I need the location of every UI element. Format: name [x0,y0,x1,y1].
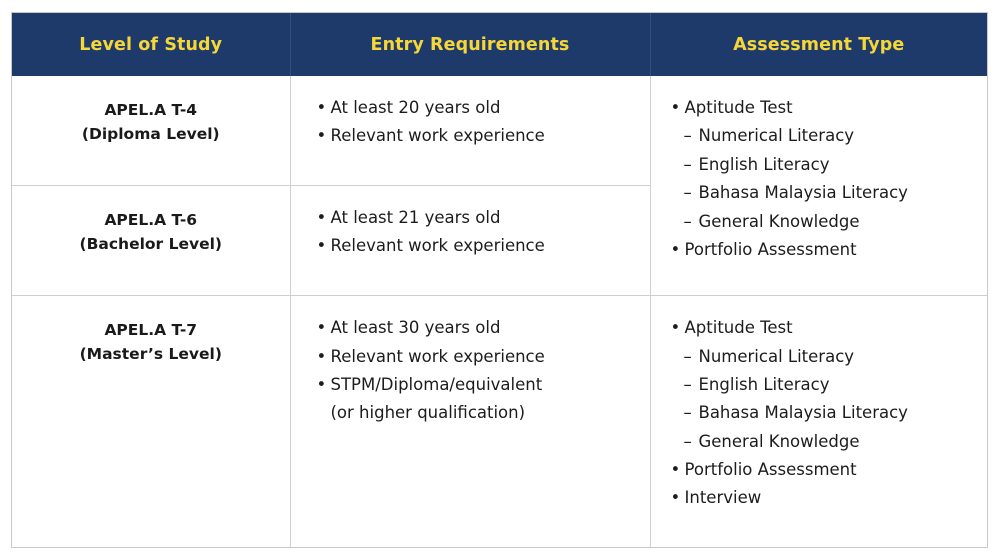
level-of-study-text: APEL.A T-4 (Diploma Level) [12,76,290,154]
entry-requirements-content: At least 20 years old Relevant work expe… [291,76,650,159]
list-item: Portfolio Assessment [671,456,978,484]
assessment-type-content: Aptitude Test Numerical Literacy English… [651,76,988,272]
level-name: (Master’s Level) [20,342,282,366]
level-code: APEL.A T-7 [20,318,282,342]
list-item: Bahasa Malaysia Literacy [671,399,978,427]
column-header-entry-requirements: Entry Requirements [290,13,650,76]
table-row: APEL.A T-7 (Master’s Level) At least 30 … [12,296,987,547]
cell-entry-requirements: At least 20 years old Relevant work expe… [290,76,650,185]
list-item: At least 30 years old [317,314,640,342]
entry-requirements-list: At least 21 years old Relevant work expe… [317,204,640,261]
table-header-row: Level of Study Entry Requirements Assess… [12,13,987,76]
level-name: (Diploma Level) [20,122,282,146]
table-body: APEL.A T-4 (Diploma Level) At least 20 y… [12,76,987,547]
list-item: English Literacy [671,371,978,399]
list-item: At least 21 years old [317,204,640,232]
apel-requirements-table: Level of Study Entry Requirements Assess… [11,12,988,548]
cell-assessment-type: Aptitude Test Numerical Literacy English… [650,296,987,547]
list-item: Aptitude Test [671,94,978,122]
entry-requirements-content: At least 30 years old Relevant work expe… [291,296,650,436]
list-item: At least 20 years old [317,94,640,122]
list-item: Portfolio Assessment [671,236,978,264]
table: Level of Study Entry Requirements Assess… [12,13,987,547]
list-item: Relevant work experience [317,122,640,150]
list-item: General Knowledge [671,208,978,236]
column-header-assessment-type: Assessment Type [650,13,987,76]
entry-requirements-list: At least 30 years old Relevant work expe… [317,314,640,428]
cell-entry-requirements: At least 21 years old Relevant work expe… [290,185,650,295]
entry-requirements-content: At least 21 years old Relevant work expe… [291,186,650,269]
table-row: APEL.A T-4 (Diploma Level) At least 20 y… [12,76,987,185]
list-item: Aptitude Test [671,314,978,342]
list-item: Interview [671,484,978,512]
list-item: Numerical Literacy [671,122,978,150]
table-header: Level of Study Entry Requirements Assess… [12,13,987,76]
list-item-continuation: (or higher qualification) [317,399,640,427]
entry-requirements-list: At least 20 years old Relevant work expe… [317,94,640,151]
cell-level-of-study: APEL.A T-6 (Bachelor Level) [12,185,290,295]
level-of-study-text: APEL.A T-6 (Bachelor Level) [12,186,290,264]
assessment-type-content: Aptitude Test Numerical Literacy English… [651,296,988,521]
level-name: (Bachelor Level) [20,232,282,256]
list-item: Bahasa Malaysia Literacy [671,179,978,207]
list-item: Numerical Literacy [671,343,978,371]
assessment-type-list: Aptitude Test Numerical Literacy English… [671,94,978,264]
cell-level-of-study: APEL.A T-7 (Master’s Level) [12,296,290,547]
list-item: Relevant work experience [317,232,640,260]
cell-entry-requirements: At least 30 years old Relevant work expe… [290,296,650,547]
cell-level-of-study: APEL.A T-4 (Diploma Level) [12,76,290,185]
level-of-study-text: APEL.A T-7 (Master’s Level) [12,296,290,374]
level-code: APEL.A T-4 [20,98,282,122]
cell-assessment-type: Aptitude Test Numerical Literacy English… [650,76,987,296]
assessment-type-list: Aptitude Test Numerical Literacy English… [671,314,978,513]
list-item: English Literacy [671,151,978,179]
list-item: Relevant work experience [317,343,640,371]
column-header-level-of-study: Level of Study [12,13,290,76]
level-code: APEL.A T-6 [20,208,282,232]
list-item: General Knowledge [671,428,978,456]
list-item: STPM/Diploma/equivalent [317,371,640,399]
